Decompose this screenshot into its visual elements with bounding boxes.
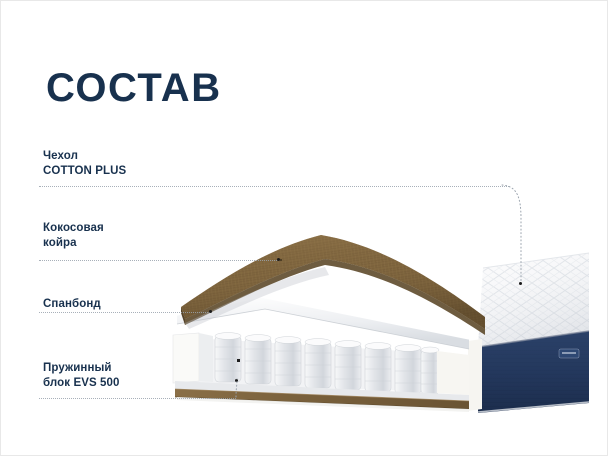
- leader-line-cover: [39, 186, 509, 188]
- brand-tag: [559, 349, 579, 358]
- callout-cover-label: Чехол COTTON PLUS: [43, 149, 126, 178]
- leader-endpoint-coir: [277, 258, 280, 261]
- callout-cover: Чехол COTTON PLUS: [43, 149, 126, 178]
- callout-coir: Кокосовая койра: [43, 221, 104, 250]
- callout-spring-block: Пружинный блок EVS 500: [43, 361, 120, 390]
- composition-infographic: СОСТАВ: [0, 0, 608, 456]
- inner-foam-edge: [468, 339, 482, 411]
- callout-spunbond-label: Спанбонд: [43, 297, 101, 312]
- callout-spring-block-label: Пружинный блок EVS 500: [43, 361, 120, 390]
- leader-endpoint-spring-block: [235, 379, 238, 382]
- callout-coir-label: Кокосовая койра: [43, 221, 104, 250]
- leader-line-spring-block: [39, 398, 236, 400]
- leader-endpoint-cover: [519, 282, 522, 285]
- callout-spunbond: Спанбонд: [43, 297, 101, 312]
- page-title: СОСТАВ: [46, 68, 222, 108]
- leader-endpoint-spunbond: [209, 310, 212, 313]
- leader-line-spunbond: [39, 312, 210, 314]
- mattress-cutaway-illustration: [169, 223, 589, 423]
- leader-line-coir: [39, 260, 277, 262]
